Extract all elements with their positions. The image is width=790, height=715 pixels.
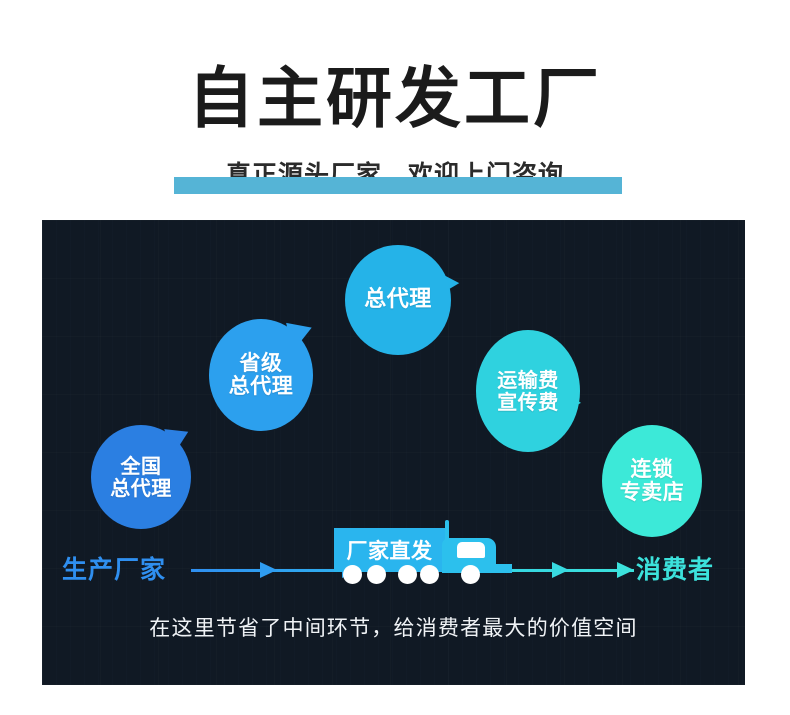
bubble-liansuo-zhuanmaidian: 连锁 专卖店 bbox=[602, 425, 702, 537]
bubble-line: 专卖店 bbox=[620, 481, 685, 504]
flow-label-consumer: 消费者 bbox=[636, 553, 714, 587]
flow-line-right bbox=[504, 569, 634, 572]
arrow-head-icon bbox=[260, 562, 277, 578]
bubble-line: 总代理 bbox=[364, 288, 432, 312]
truck-window bbox=[457, 542, 485, 558]
distribution-diagram-panel: 全国 总代理 省级 总代理 总代理 运输费 宣传费 连锁 bbox=[42, 220, 745, 685]
title-block: 自主研发工厂 bbox=[0, 55, 790, 145]
bubble-line: 总代理 bbox=[229, 375, 294, 398]
bubble-line: 宣传费 bbox=[497, 391, 559, 413]
poster-page: 自主研发工厂 真正源头厂家，欢迎上门咨询 全国 总代理 省级 总代理 总代理 bbox=[0, 0, 790, 715]
panel-caption: 在这里节省了中间环节，给消费者最大的价值空间 bbox=[42, 613, 745, 643]
bubble-line: 连锁 bbox=[620, 458, 685, 481]
bubble-line: 运输费 bbox=[497, 369, 559, 391]
bubble-zongdaili: 总代理 bbox=[345, 245, 451, 355]
bubble-line: 全国 bbox=[110, 455, 172, 477]
truck-wheel bbox=[461, 565, 480, 584]
arrow-head-icon bbox=[617, 562, 634, 578]
delivery-truck-icon: 厂家直发 bbox=[334, 520, 512, 590]
flow-label-manufacturer: 生产厂家 bbox=[62, 553, 166, 587]
bubble-quanguo-zongdaili: 全国 总代理 bbox=[91, 425, 191, 529]
bubble-shengji-zongdaili: 省级 总代理 bbox=[209, 319, 313, 431]
arrow-head-icon bbox=[552, 562, 569, 578]
bubble-line: 省级 bbox=[229, 352, 294, 375]
poster-header: 自主研发工厂 真正源头厂家，欢迎上门咨询 bbox=[0, 0, 790, 205]
truck-wheel bbox=[367, 565, 386, 584]
truck-wheel bbox=[343, 565, 362, 584]
bubble-yunshufei-xuanchuanfei: 运输费 宣传费 bbox=[476, 330, 580, 452]
truck-wheel bbox=[398, 565, 417, 584]
title-underline-bar bbox=[174, 177, 622, 194]
bubble-line: 总代理 bbox=[110, 477, 172, 499]
page-title: 自主研发工厂 bbox=[188, 55, 602, 143]
truck-wheel bbox=[420, 565, 439, 584]
